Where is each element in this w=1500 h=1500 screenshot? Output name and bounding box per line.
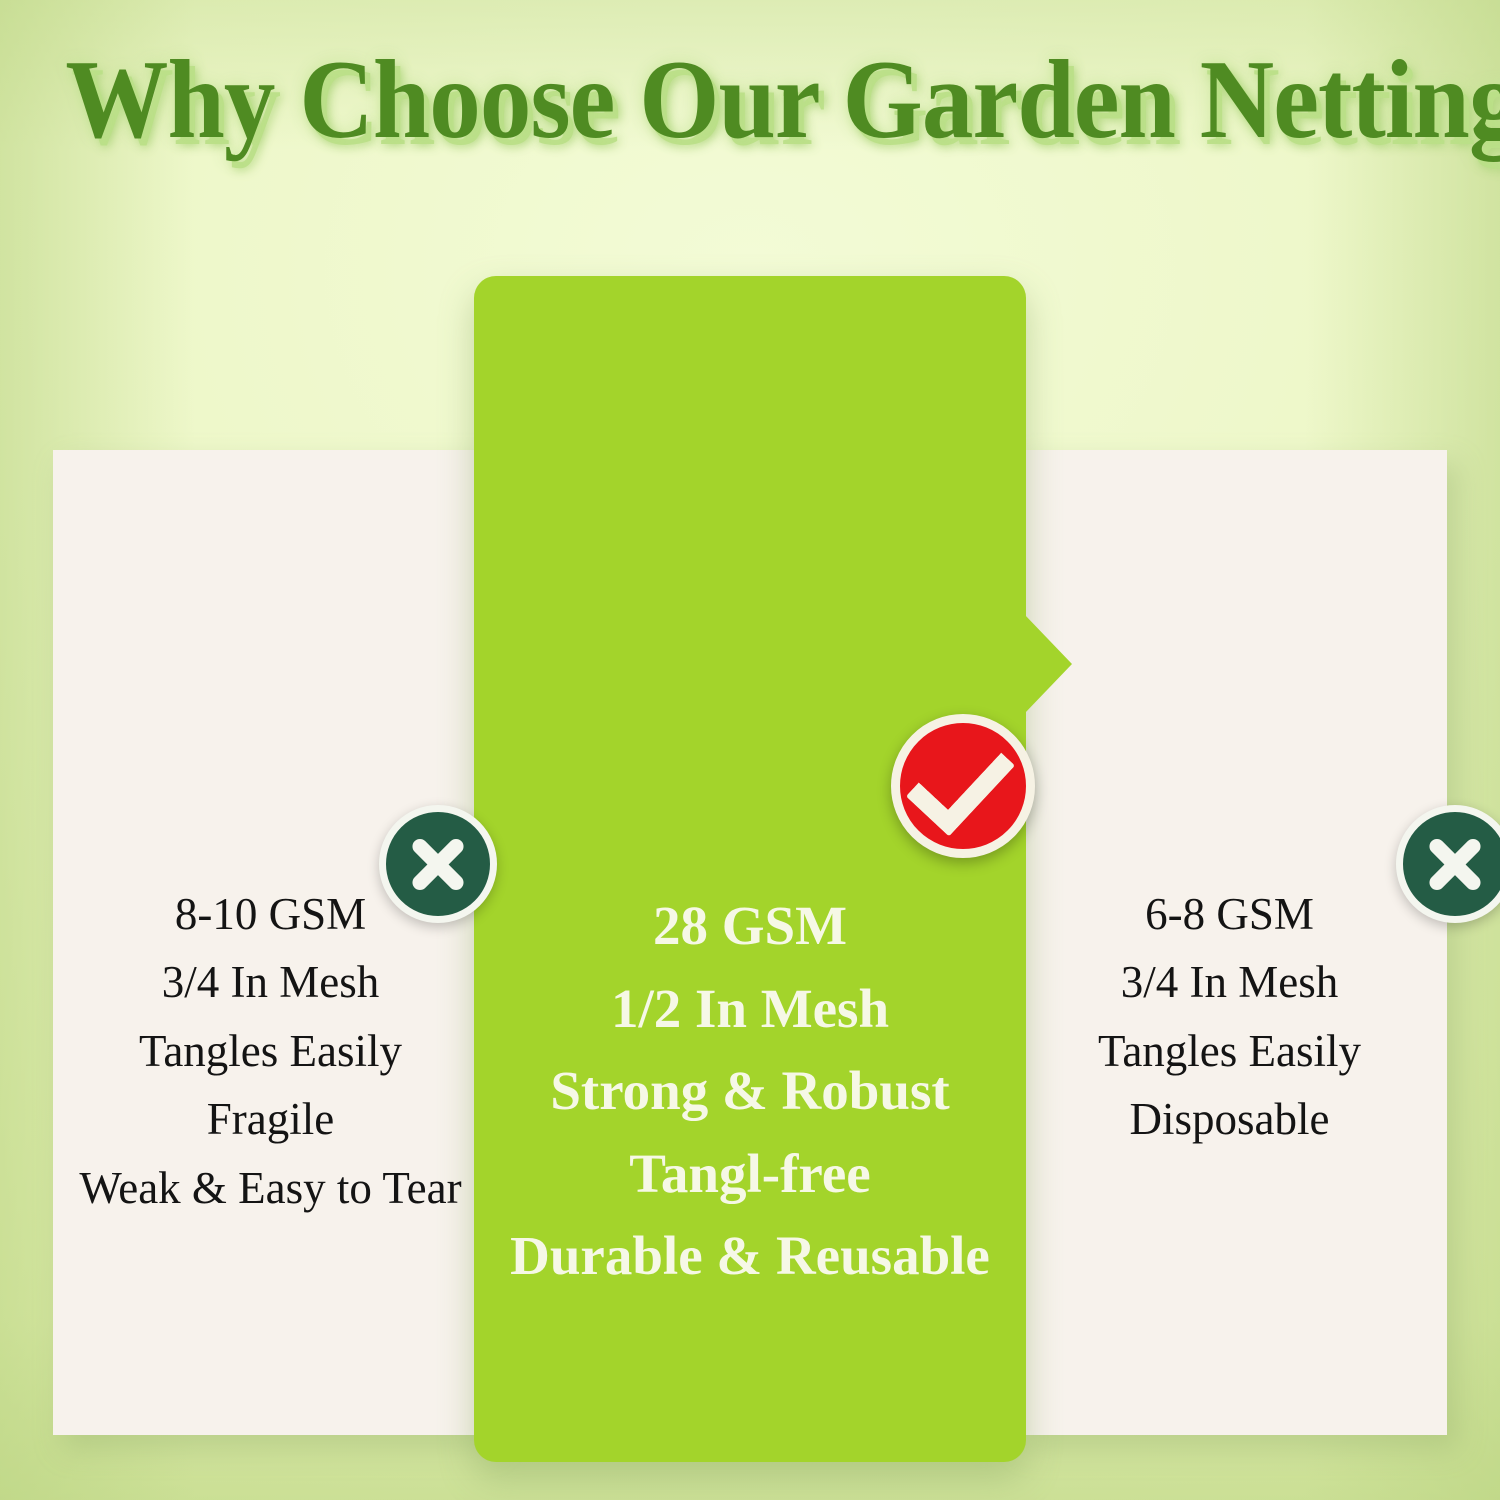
page-title-text: Why Choose Our Garden Netting? (65, 44, 1500, 156)
spec-item: 28 GSM (474, 885, 1026, 968)
spec-item: Weak & Easy to Tear (53, 1154, 488, 1222)
pointer-arrow-icon (1024, 614, 1072, 714)
spec-item: 3/4 In Mesh (53, 948, 488, 1016)
spec-item: Tangl-free (474, 1133, 1026, 1216)
spec-item: 3/4 In Mesh (1012, 948, 1447, 1016)
infographic-canvas: Why Choose Our Garden Netting? 8-10 GSM … (0, 0, 1500, 1500)
spec-item: Strong & Robust (474, 1050, 1026, 1133)
spec-list-right: 6-8 GSM 3/4 In Mesh Tangles Easily Dispo… (1012, 880, 1447, 1154)
spec-item: 6-8 GSM (1012, 880, 1447, 948)
spec-item: Tangles Easily (53, 1017, 488, 1085)
check-icon (891, 714, 1035, 858)
spec-item: Fragile (53, 1085, 488, 1153)
spec-list-left: 8-10 GSM 3/4 In Mesh Tangles Easily Frag… (53, 880, 488, 1222)
page-title: Why Choose Our Garden Netting? (0, 44, 1500, 156)
spec-item: Tangles Easily (1012, 1017, 1447, 1085)
spec-list-center: 28 GSM 1/2 In Mesh Strong & Robust Tangl… (474, 885, 1026, 1298)
spec-item: Disposable (1012, 1085, 1447, 1153)
check-stroke (905, 725, 1014, 836)
spec-item: 1/2 In Mesh (474, 968, 1026, 1051)
cross-icon (379, 805, 497, 923)
spec-item: Durable & Reusable (474, 1215, 1026, 1298)
